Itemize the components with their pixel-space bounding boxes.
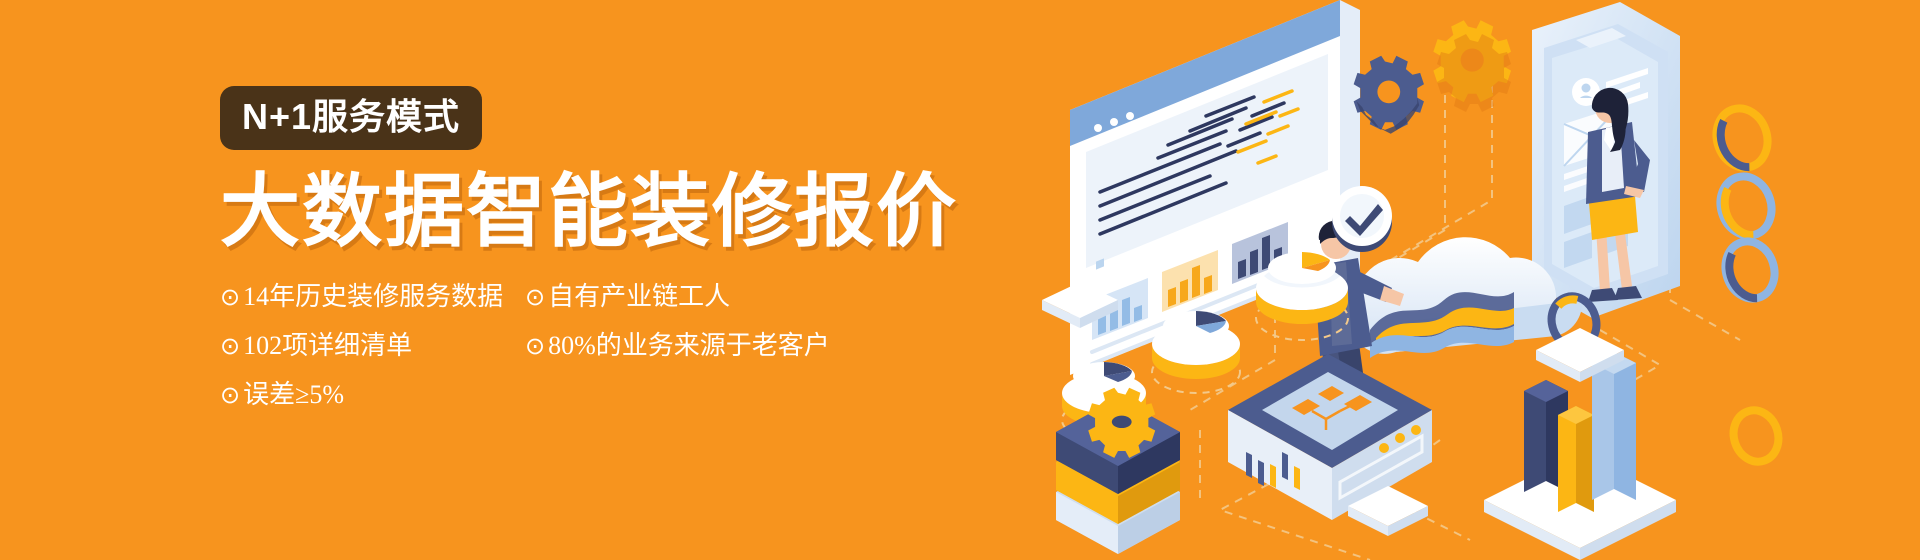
service-model-badge: N+1服务模式 [220,86,482,150]
list-item-label: 80%的业务来源于老客户 [548,333,830,359]
list-item-label: 自有产业链工人 [548,284,730,310]
ring-icon [1718,235,1782,305]
ring-icon [1709,102,1775,175]
bullet-dot-icon: ⊙ [220,383,240,407]
list-item-label: 102项详细清单 [243,333,412,359]
check-icon [1332,186,1392,252]
gear-icon [1354,56,1424,134]
ring-icon [1727,404,1785,467]
list-item: ⊙ 80%的业务来源于老客户 [525,333,845,359]
big-data-isometric-illustration [1040,0,1920,560]
feature-bullet-list: ⊙ 14年历史装修服务数据 ⊙ 102项详细清单 ⊙ 误差≥5% ⊙ 自有产业链… [220,284,860,431]
ring-icon [1713,170,1779,243]
bar-chart-icon [1484,352,1676,560]
bullet-dot-icon: ⊙ [525,285,545,309]
list-item-label: 误差≥5% [243,382,344,408]
bullet-dot-icon: ⊙ [220,334,240,358]
bullet-column-right: ⊙ 自有产业链工人 ⊙ 80%的业务来源于老客户 [525,284,845,431]
list-item: ⊙ 14年历史装修服务数据 [220,284,525,310]
list-item: ⊙ 102项详细清单 [220,333,525,359]
bullet-dot-icon: ⊙ [525,334,545,358]
list-item-label: 14年历史装修服务数据 [243,284,503,310]
promo-banner: N+1服务模式 大数据智能装修报价 ⊙ 14年历史装修服务数据 ⊙ 102项详细… [0,0,1920,560]
list-item: ⊙ 自有产业链工人 [525,284,845,310]
bullet-dot-icon: ⊙ [220,285,240,309]
list-item: ⊙ 误差≥5% [220,382,525,408]
bullet-column-left: ⊙ 14年历史装修服务数据 ⊙ 102项详细清单 ⊙ 误差≥5% [220,284,525,431]
banner-copy: N+1服务模式 大数据智能装修报价 ⊙ 14年历史装修服务数据 ⊙ 102项详细… [220,86,1040,431]
page-title: 大数据智能装修报价 [220,170,1040,254]
